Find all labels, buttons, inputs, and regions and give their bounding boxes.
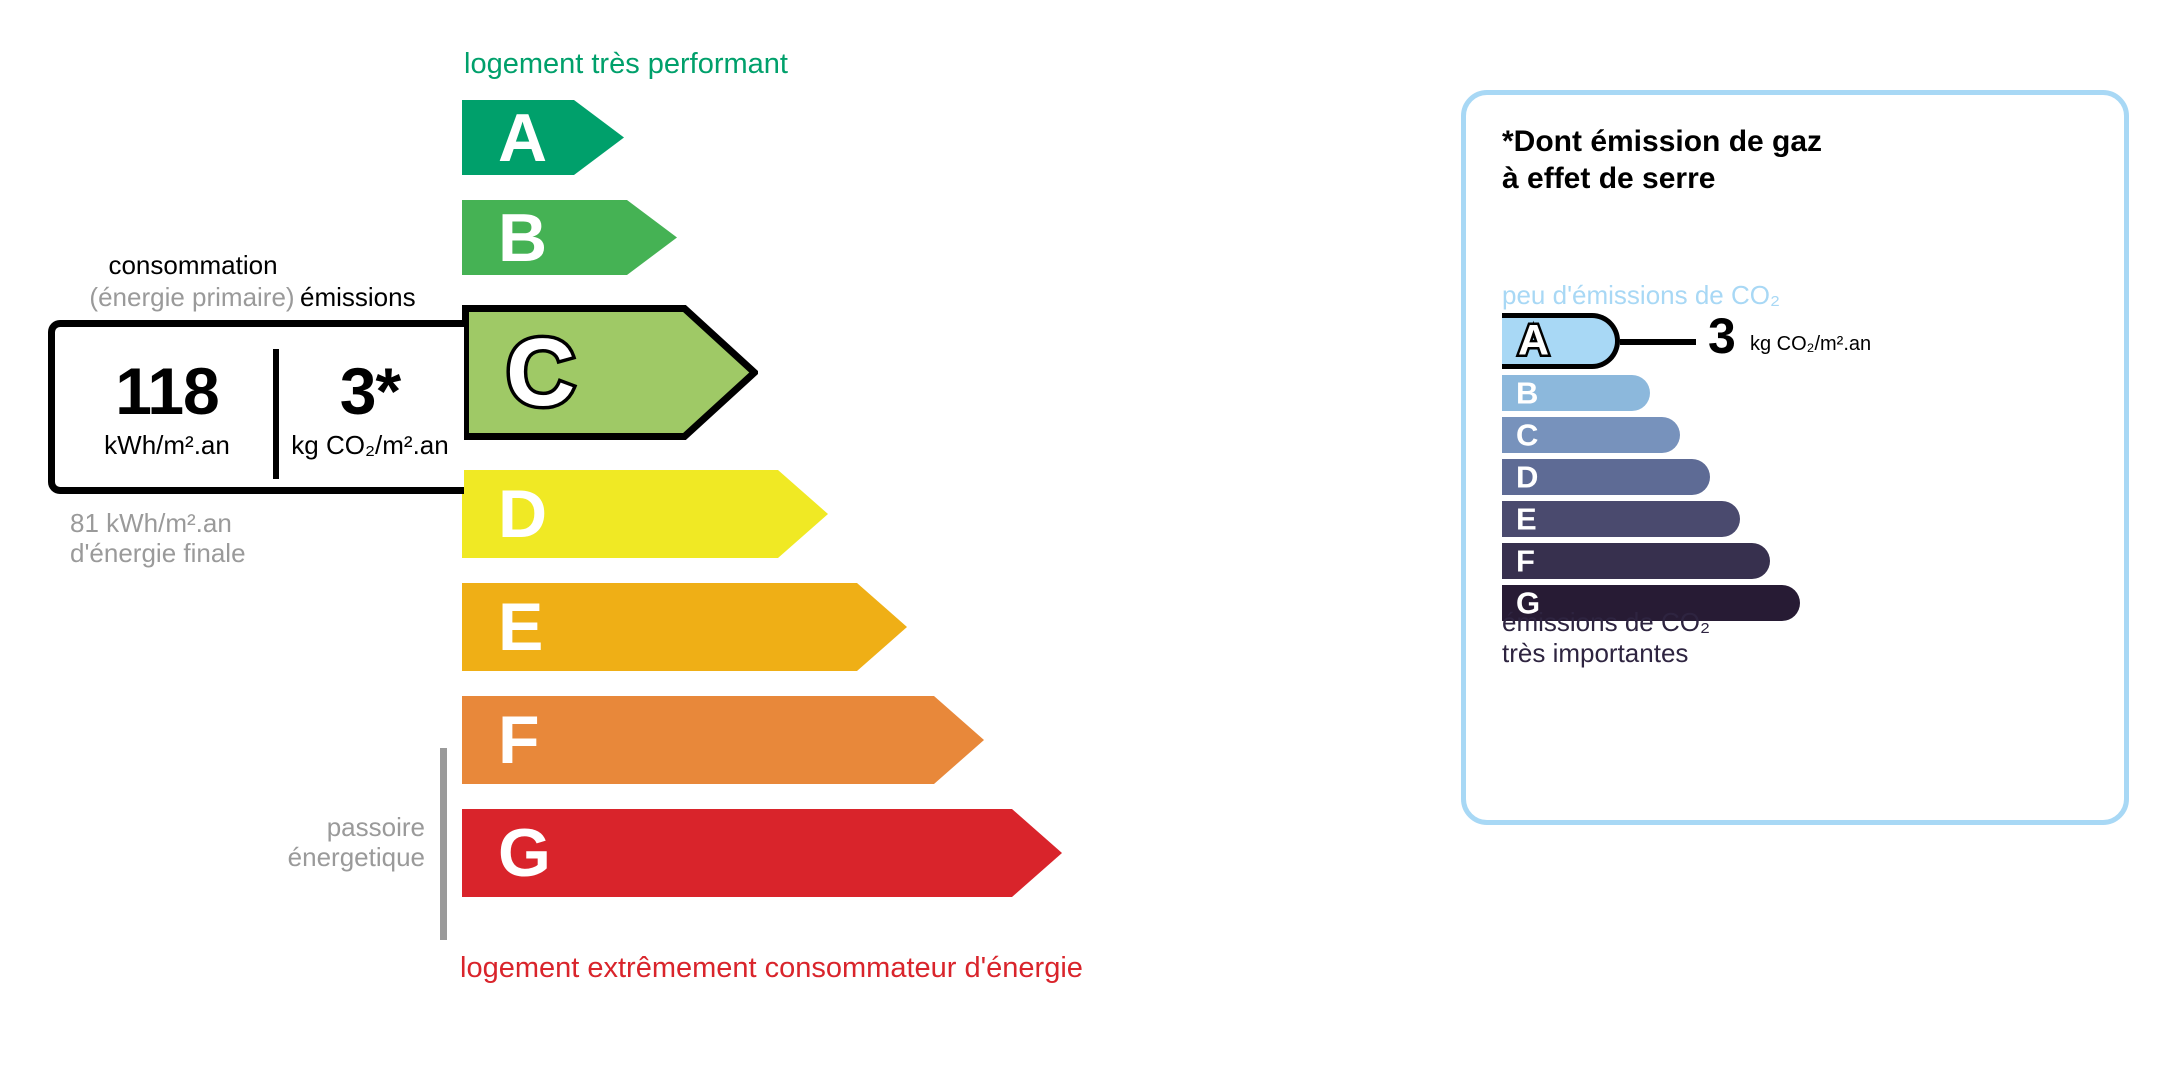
energy-band-letter-g: G [498, 819, 551, 887]
energy-band-d: D [462, 470, 828, 558]
co2-bar-b: B [1502, 375, 1650, 411]
co2-bar-row-b: B [1502, 375, 1800, 411]
emission-value: 3* [281, 353, 459, 429]
co2-bar-c: C [1502, 417, 1680, 453]
energy-band-f: F [462, 696, 984, 784]
co2-bottom-caption: émissions de CO₂ très importantes [1502, 607, 1710, 669]
co2-bar-letter-f: F [1516, 546, 1535, 577]
co2-bottom-caption-line1: émissions de CO₂ [1502, 607, 1710, 638]
co2-bar-a: A [1502, 313, 1620, 369]
co2-callout-panel: *Dont émission de gaz à effet de serre p… [1461, 90, 2129, 825]
co2-bar-letter-d: D [1516, 462, 1538, 493]
energy-band-letter-b: B [498, 204, 547, 272]
energy-band-letter-d: D [498, 480, 547, 548]
consumption-header-label: consommation [68, 250, 318, 281]
final-energy-footnote: 81 kWh/m².an d'énergie finale [70, 508, 246, 568]
co2-leader-line [1620, 339, 1696, 345]
co2-bar-row-a: A3kg CO₂/m².an [1502, 313, 1800, 369]
energy-band-shape-f [462, 696, 984, 784]
energy-band-letter-a: A [498, 104, 547, 172]
co2-bar-f: F [1502, 543, 1770, 579]
co2-bar-letter-c: C [1516, 420, 1538, 451]
passoire-line2: énergetique [280, 842, 425, 872]
emission-unit: kg CO₂/m².an [281, 429, 459, 461]
co2-bar-letter-b: B [1516, 378, 1538, 409]
value-box-divider [273, 349, 279, 479]
scale-top-caption: logement très performant [464, 48, 788, 81]
consumption-header-sublabel: (énergie primaire) [46, 282, 338, 313]
co2-title-line1: *Dont émission de gaz [1502, 123, 1822, 160]
energy-band-g: G [462, 809, 1062, 897]
co2-top-caption: peu d'émissions de CO₂ [1502, 280, 1780, 311]
energy-band-letter-f: F [498, 706, 540, 774]
co2-value: 3 [1708, 307, 1736, 365]
co2-value-unit: kg CO₂/m².an [1750, 333, 1871, 356]
co2-bar-row-f: F [1502, 543, 1800, 579]
consumption-unit: kWh/m².an [63, 429, 271, 461]
co2-bar-letter-a: A [1518, 320, 1549, 363]
energy-band-letter-c: C [506, 325, 575, 421]
energy-band-shape-g [462, 809, 1062, 897]
scale-bottom-caption: logement extrêmement consommateur d'éner… [460, 952, 1083, 985]
co2-bar-letter-e: E [1516, 504, 1537, 535]
passoire-line1: passoire [280, 812, 425, 842]
energy-band-a: A [462, 100, 624, 175]
energy-band-c: C [462, 305, 758, 440]
passoire-bracket-line [440, 748, 447, 940]
co2-bar-d: D [1502, 459, 1710, 495]
energy-band-e: E [462, 583, 907, 671]
co2-bar-row-c: C [1502, 417, 1800, 453]
co2-title-line2: à effet de serre [1502, 160, 1822, 197]
energy-band-b: B [462, 200, 677, 275]
value-box: 118 kWh/m².an 3* kg CO₂/m².an [48, 320, 464, 494]
co2-bar-list: A3kg CO₂/m².anBCDEFG [1502, 313, 1800, 627]
co2-bar-e: E [1502, 501, 1740, 537]
co2-bottom-caption-line2: très importantes [1502, 638, 1710, 669]
final-energy-footnote-line2: d'énergie finale [70, 538, 246, 568]
emissions-header-label: émissions [300, 282, 416, 313]
energy-band-shape-b [462, 200, 677, 275]
co2-panel-title: *Dont émission de gaz à effet de serre [1502, 123, 1822, 197]
co2-bar-row-e: E [1502, 501, 1800, 537]
consumption-value-cell: 118 kWh/m².an [63, 353, 271, 461]
final-energy-footnote-line1: 81 kWh/m².an [70, 508, 246, 538]
co2-bar-row-d: D [1502, 459, 1800, 495]
consumption-value: 118 [63, 353, 271, 429]
passoire-energetique-label: passoire énergetique [280, 812, 425, 872]
energy-performance-scale: logement très performant consommation (é… [0, 0, 1400, 1079]
emission-value-cell: 3* kg CO₂/m².an [281, 353, 459, 461]
energy-band-letter-e: E [498, 593, 543, 661]
